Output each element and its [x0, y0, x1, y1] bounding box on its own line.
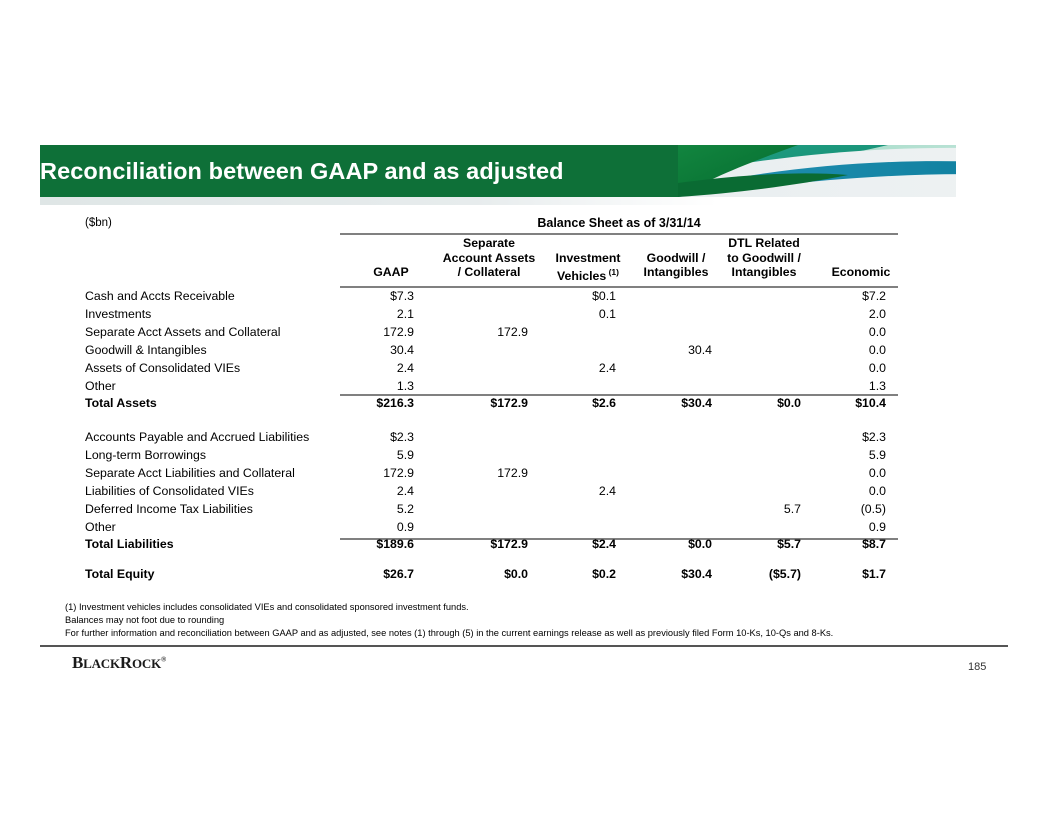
cell-total-equity-5: $1.7	[746, 567, 886, 581]
row-label-asset-2: Separate Acct Assets and Collateral	[85, 325, 281, 339]
rule-header-bottom	[340, 286, 898, 288]
row-label-liability-4: Deferred Income Tax Liabilities	[85, 502, 253, 516]
registered-mark: ®	[161, 655, 166, 663]
row-label-liability-2: Separate Acct Liabilities and Collateral	[85, 466, 295, 480]
cell-liability-4-5: (0.5)	[746, 502, 886, 516]
cell-liability-3-0: 2.4	[274, 484, 414, 498]
row-label-total-assets: Total Assets	[85, 396, 157, 410]
row-label-asset-0: Cash and Accts Receivable	[85, 289, 235, 303]
cell-asset-3-5: 0.0	[746, 343, 886, 357]
cell-asset-2-5: 0.0	[746, 325, 886, 339]
cell-asset-3-3: 30.4	[572, 343, 712, 357]
balance-sheet-table: ($bn) Balance Sheet as of 3/31/14 GAAPSe…	[0, 0, 1056, 816]
cell-liability-0-5: $2.3	[746, 430, 886, 444]
logo-lack: LACK	[83, 656, 120, 671]
cell-asset-5-5: 1.3	[746, 379, 886, 393]
row-label-total-liabilities: Total Liabilities	[85, 537, 174, 551]
table-group-header: Balance Sheet as of 3/31/14	[340, 216, 898, 230]
cell-liability-4-0: 5.2	[274, 502, 414, 516]
row-label-liability-5: Other	[85, 520, 116, 534]
row-label-liability-1: Long-term Borrowings	[85, 448, 206, 462]
footnote-2: Balances may not foot due to rounding	[65, 615, 224, 625]
row-label-total-equity: Total Equity	[85, 567, 154, 581]
logo-ock: OCK	[132, 656, 161, 671]
cell-asset-0-2: $0.1	[476, 289, 616, 303]
cell-asset-1-5: 2.0	[746, 307, 886, 321]
row-label-asset-1: Investments	[85, 307, 151, 321]
footnote-1: (1) Investment vehicles includes consoli…	[65, 602, 469, 612]
cell-liability-3-5: 0.0	[746, 484, 886, 498]
cell-asset-0-0: $7.3	[274, 289, 414, 303]
row-label-asset-5: Other	[85, 379, 116, 393]
rule-top	[340, 233, 898, 235]
cell-asset-4-0: 2.4	[274, 361, 414, 375]
row-label-asset-3: Goodwill & Intangibles	[85, 343, 207, 357]
cell-liability-3-2: 2.4	[476, 484, 616, 498]
cell-asset-5-0: 1.3	[274, 379, 414, 393]
cell-asset-3-0: 30.4	[274, 343, 414, 357]
cell-asset-1-2: 0.1	[476, 307, 616, 321]
cell-liability-5-5: 0.9	[746, 520, 886, 534]
blackrock-logo: BLACKROCK®	[72, 653, 166, 673]
row-label-asset-4: Assets of Consolidated VIEs	[85, 361, 240, 375]
logo-b: B	[72, 653, 83, 672]
page-number: 185	[968, 661, 986, 673]
cell-asset-1-0: 2.1	[274, 307, 414, 321]
cell-liability-1-0: 5.9	[274, 448, 414, 462]
cell-liability-2-5: 0.0	[746, 466, 886, 480]
cell-total-liabilities-5: $8.7	[746, 537, 886, 551]
footnote-3: For further information and reconciliati…	[65, 628, 833, 638]
cell-liability-2-1: 172.9	[388, 466, 528, 480]
logo-r: R	[120, 653, 132, 672]
cell-asset-2-1: 172.9	[388, 325, 528, 339]
row-label-liability-3: Liabilities of Consolidated VIEs	[85, 484, 254, 498]
footer-divider	[40, 645, 1008, 647]
cell-asset-4-5: 0.0	[746, 361, 886, 375]
cell-asset-0-5: $7.2	[746, 289, 886, 303]
column-header-5: Economic	[791, 236, 931, 280]
cell-liability-0-0: $2.3	[274, 430, 414, 444]
unit-label: ($bn)	[85, 217, 112, 229]
cell-liability-5-0: 0.9	[274, 520, 414, 534]
cell-total-assets-5: $10.4	[746, 396, 886, 410]
cell-asset-4-2: 2.4	[476, 361, 616, 375]
cell-liability-1-5: 5.9	[746, 448, 886, 462]
